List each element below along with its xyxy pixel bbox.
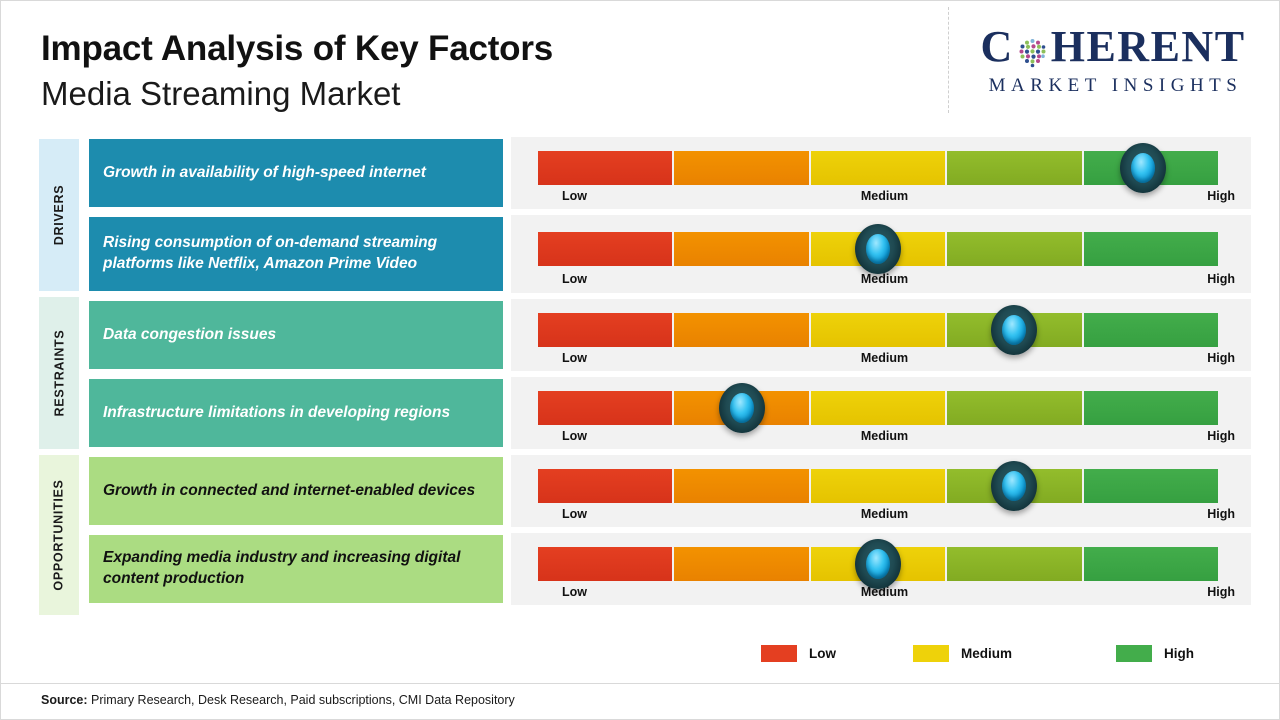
category-label-restraints: RESTRAINTS: [52, 330, 66, 417]
category-band-drivers: DRIVERS: [39, 139, 79, 291]
scale-label-high: High: [1207, 351, 1235, 365]
legend-swatch-medium: [913, 645, 949, 662]
gauge-segment-low: [538, 313, 674, 347]
category-label-opportunities: OPPORTUNITIES: [52, 479, 66, 590]
gauge-segment-medium-high: [947, 232, 1083, 266]
factor-label: Data congestion issues: [89, 301, 503, 369]
scale-label-high: High: [1207, 429, 1235, 443]
factor-label: Growth in connected and internet-enabled…: [89, 457, 503, 525]
category-column: DRIVERS RESTRAINTS OPPORTUNITIES: [39, 137, 79, 615]
gauge-track: [538, 391, 1218, 425]
factor-label: Expanding media industry and increasing …: [89, 535, 503, 603]
gauge-marker[interactable]: [855, 539, 901, 589]
category-band-restraints: RESTRAINTS: [39, 297, 79, 449]
gauge-segment-low: [538, 391, 674, 425]
title-block: Impact Analysis of Key Factors Media Str…: [41, 29, 553, 114]
gauge-scale-labels: Low Medium High: [538, 189, 1231, 207]
factor-row: Data congestion issues Low Medium High: [89, 299, 1253, 373]
legend-item-low: Low: [761, 645, 836, 662]
impact-gauge: Low Medium High: [511, 299, 1251, 371]
scale-label-high: High: [1207, 272, 1235, 286]
gauge-segment-low: [538, 547, 674, 581]
legend-swatch-low: [761, 645, 797, 662]
page-subtitle: Media Streaming Market: [41, 74, 553, 114]
footer-divider: [1, 683, 1279, 684]
scale-label-high: High: [1207, 585, 1235, 599]
factor-label: Infrastructure limitations in developing…: [89, 379, 503, 447]
legend-item-medium: Medium: [913, 645, 1012, 662]
scale-label-medium: Medium: [861, 429, 908, 443]
legend-label-high: High: [1164, 646, 1194, 661]
gauge-segment-medium-high: [947, 547, 1083, 581]
slide-header: Impact Analysis of Key Factors Media Str…: [1, 1, 1280, 133]
gauge-segment-medium: [811, 469, 947, 503]
gauge-marker[interactable]: [855, 224, 901, 274]
factor-row: Growth in connected and internet-enabled…: [89, 455, 1253, 529]
gauge-segment-medium-high: [947, 151, 1083, 185]
scale-label-low: Low: [562, 585, 587, 599]
gauge-segment-high: [1084, 391, 1218, 425]
gauge-segment-low: [538, 232, 674, 266]
gauge-segment-high: [1084, 547, 1218, 581]
globe-dot-sphere-icon: [1016, 33, 1049, 66]
source-text: Primary Research, Desk Research, Paid su…: [91, 693, 515, 707]
gauge-segment-low-medium: [674, 547, 810, 581]
scale-label-low: Low: [562, 272, 587, 286]
logo-word-herent: HERENT: [1051, 25, 1246, 69]
scale-label-medium: Medium: [861, 351, 908, 365]
factor-row: Expanding media industry and increasing …: [89, 533, 1253, 607]
gauge-segment-medium: [811, 391, 947, 425]
scale-label-low: Low: [562, 507, 587, 521]
scale-label-medium: Medium: [861, 189, 908, 203]
scale-label-medium: Medium: [861, 272, 908, 286]
gauge-scale-labels: Low Medium High: [538, 272, 1231, 290]
factor-row: Growth in availability of high-speed int…: [89, 137, 1253, 211]
factor-label: Rising consumption of on-demand streamin…: [89, 217, 503, 291]
gauge-segment-low-medium: [674, 313, 810, 347]
factor-label: Growth in availability of high-speed int…: [89, 139, 503, 207]
gauge-segment-low: [538, 469, 674, 503]
logo-tagline: MARKET INSIGHTS: [963, 75, 1263, 97]
impact-gauge: Low Medium High: [511, 455, 1251, 527]
gauge-track: [538, 313, 1218, 347]
gauge-marker[interactable]: [1120, 143, 1166, 193]
legend-label-low: Low: [809, 646, 836, 661]
gauge-scale-labels: Low Medium High: [538, 429, 1231, 447]
gauge-scale-labels: Low Medium High: [538, 507, 1231, 525]
category-label-drivers: DRIVERS: [52, 185, 66, 245]
category-band-opportunities: OPPORTUNITIES: [39, 455, 79, 615]
legend-item-high: High: [1116, 645, 1194, 662]
gauge-segment-low-medium: [674, 151, 810, 185]
gauge-segment-medium-high: [947, 391, 1083, 425]
legend-swatch-high: [1116, 645, 1152, 662]
gauge-track: [538, 469, 1218, 503]
scale-label-low: Low: [562, 189, 587, 203]
gauge-marker[interactable]: [991, 461, 1037, 511]
gauge-segment-low-medium: [674, 232, 810, 266]
gauge-segment-medium: [811, 151, 947, 185]
impact-matrix: DRIVERS RESTRAINTS OPPORTUNITIES Growth …: [1, 137, 1280, 629]
logo-wordmark: C: [963, 23, 1263, 71]
gauge-segment-low-medium: [674, 469, 810, 503]
impact-gauge: Low Medium High: [511, 533, 1251, 605]
logo-letter-c: C: [980, 25, 1013, 69]
factor-rows: Growth in availability of high-speed int…: [89, 137, 1253, 611]
factor-row: Infrastructure limitations in developing…: [89, 377, 1253, 451]
scale-label-medium: Medium: [861, 507, 908, 521]
gauge-scale-labels: Low Medium High: [538, 351, 1231, 369]
gauge-segment-high: [1084, 469, 1218, 503]
gauge-track: [538, 151, 1218, 185]
header-dashed-divider: [948, 7, 949, 113]
page-title: Impact Analysis of Key Factors: [41, 29, 553, 68]
gauge-marker[interactable]: [719, 383, 765, 433]
gauge-segment-medium: [811, 313, 947, 347]
impact-gauge: Low Medium High: [511, 137, 1251, 209]
source-label: Source:: [41, 693, 88, 707]
legend-label-medium: Medium: [961, 646, 1012, 661]
coherent-market-insights-logo: C: [963, 23, 1263, 97]
slide-canvas: Impact Analysis of Key Factors Media Str…: [0, 0, 1280, 720]
gauge-marker[interactable]: [991, 305, 1037, 355]
gauge-segment-high: [1084, 313, 1218, 347]
scale-label-high: High: [1207, 507, 1235, 521]
impact-gauge: Low Medium High: [511, 377, 1251, 449]
gauge-segment-high: [1084, 232, 1218, 266]
scale-label-low: Low: [562, 429, 587, 443]
source-note: Source: Primary Research, Desk Research,…: [41, 693, 515, 707]
scale-label-high: High: [1207, 189, 1235, 203]
scale-label-low: Low: [562, 351, 587, 365]
gauge-segment-low: [538, 151, 674, 185]
impact-gauge: Low Medium High: [511, 215, 1251, 293]
legend: Low Medium High: [761, 645, 1221, 669]
factor-row: Rising consumption of on-demand streamin…: [89, 215, 1253, 295]
